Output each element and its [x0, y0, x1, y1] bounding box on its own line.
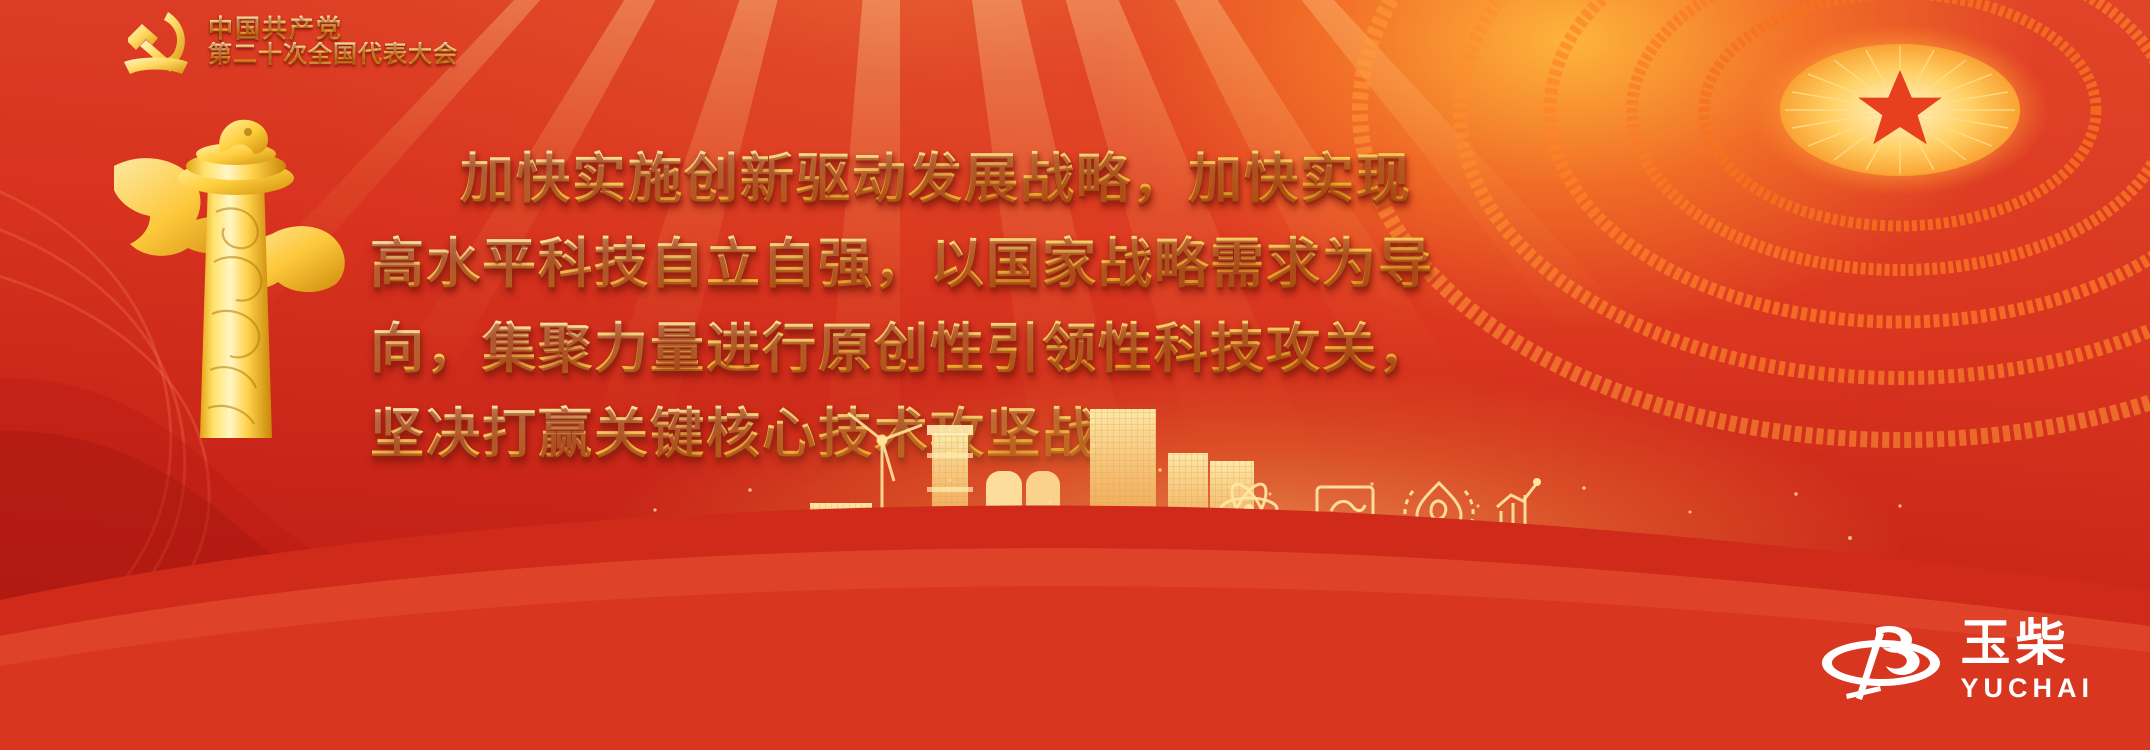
yuchai-brand-lockup: 玉柴 YUCHAI — [1818, 618, 2094, 702]
slogan-line-3: 向，集聚力量进行原创性引领性科技攻关， — [370, 306, 1670, 391]
slogan-line-2: 高水平科技自立自强，以国家战略需求为导 — [370, 221, 1670, 306]
emblem-line-2: 第二十次全国代表大会 — [208, 42, 458, 68]
atom-icon — [1221, 479, 1277, 538]
technology-icon-row — [1215, 465, 1545, 550]
low-grid-building-icon — [810, 503, 872, 567]
congress-banner: 中国共产党 第二十次全国代表大会 加快实施创新驱动发展战略，加快实现 高水平科技… — [0, 0, 2150, 750]
oil-drop-recycle-icon — [1405, 483, 1473, 537]
twin-silo-building-icon — [986, 471, 1060, 567]
brand-name-cn: 玉柴 — [1960, 618, 2070, 668]
brand-name-en: YUCHAI — [1960, 675, 2094, 702]
emblem-line-1: 中国共产党 — [208, 15, 458, 42]
huabiao-pillar-icon — [96, 108, 356, 438]
yuchai-swoosh-logo — [1818, 618, 1944, 702]
slogan-line-4: 坚决打赢关键核心技术攻坚战 — [370, 391, 1670, 476]
monitor-icon — [1317, 487, 1373, 537]
bottom-red-wave — [0, 450, 2150, 750]
growth-chart-icon — [1493, 478, 1541, 531]
slogan-block: 加快实施创新驱动发展战略，加快实现 高水平科技自立自强，以国家战略需求为导 向，… — [370, 136, 1670, 476]
five-pointed-star-icon — [1858, 70, 1942, 144]
cpc-congress-emblem: 中国共产党 第二十次全国代表大会 — [118, 4, 458, 78]
hammer-and-sickle-icon — [118, 4, 194, 78]
slogan-line-1: 加快实施创新驱动发展战略，加快实现 — [370, 136, 1670, 221]
